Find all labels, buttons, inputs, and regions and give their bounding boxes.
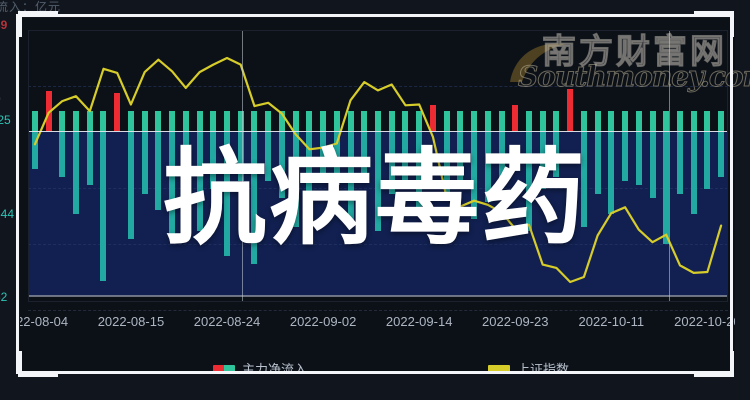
y-axis-label-1: .25 <box>0 113 11 127</box>
x-axis-tick-label: 2022-10-11 <box>579 314 645 329</box>
x-axis-tick-label: 2022-09-23 <box>482 314 549 329</box>
x-axis-tick-label: 2022-08-24 <box>194 314 261 329</box>
y-axis-label-0: 0 <box>0 92 1 106</box>
zero-baseline <box>28 131 728 132</box>
legend-item-shanghai-index[interactable]: 上证指数 <box>488 359 569 373</box>
screenshot-root: 流入：亿元 39 0 .25 644 62 2022-08-042022-08-… <box>0 0 750 400</box>
x-axis-tick-label: 2022-09-02 <box>290 314 357 329</box>
legend-swatch-line-icon <box>488 365 510 372</box>
legend: 主力净流入 上证指数 <box>20 359 735 373</box>
legend-label-shanghai-index: 上证指数 <box>517 359 569 373</box>
y-axis-label-3: 62 <box>0 290 7 304</box>
x-axis-tick-label: 2022-08-04 <box>20 314 68 329</box>
x-axis-tick-label: 2022-10-20 <box>674 314 735 329</box>
x-axis-tick-label: 2022-09-14 <box>386 314 453 329</box>
x-axis-tick-label: 2022-08-15 <box>98 314 165 329</box>
legend-label-main-net-inflow: 主力净流入 <box>242 359 307 373</box>
legend-swatch-bar-icon <box>213 365 235 372</box>
legend-item-main-net-inflow[interactable]: 主力净流入 <box>213 359 307 373</box>
x-axis-rule <box>28 310 728 311</box>
x-axis: 2022-08-042022-08-152022-08-242022-09-02… <box>20 314 735 336</box>
page-title: 抗病毒药 <box>0 146 750 250</box>
